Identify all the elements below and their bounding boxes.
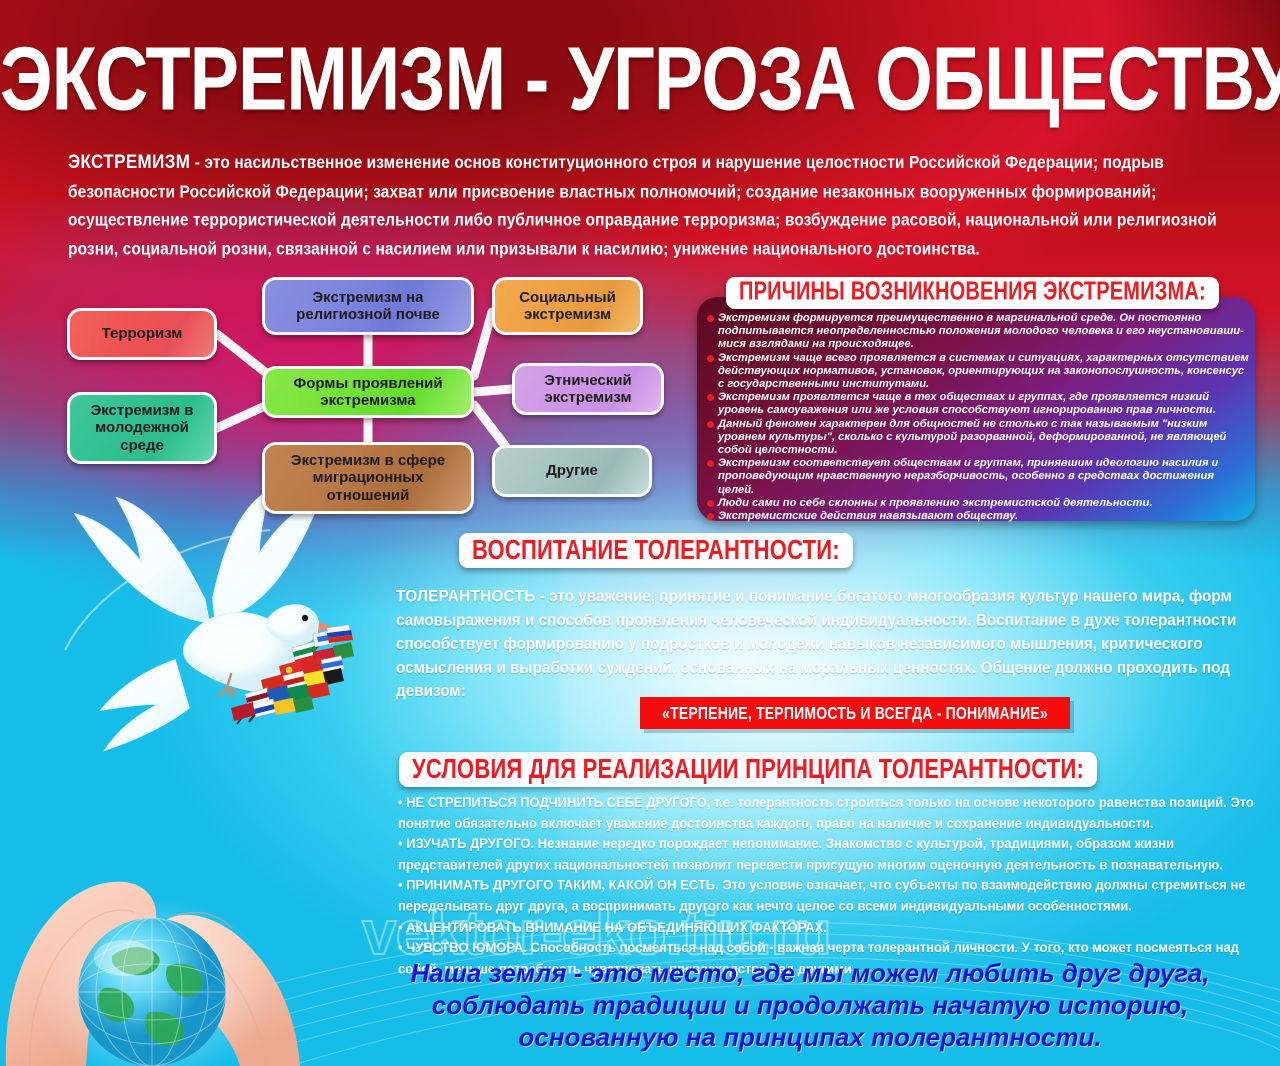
poster-root: ЭКСТРЕМИЗМ - УГРОЗА ОБЩЕСТВУ! ЭКСТРЕМИЗМ… — [0, 0, 1280, 1066]
conditions-list: • НЕ СТРЕПИТЬСЯ ПОДЧИНИТЬ СЕБЕ ДРУГОГО, … — [398, 792, 1264, 979]
diagram-node-label: Формы проявлений экстремизма — [272, 375, 464, 410]
diagram-node-religious[interactable]: Экстремизм на религиозной почве — [262, 277, 474, 335]
causes-list-item: Экстремистские действия навязывают общес… — [705, 510, 1253, 523]
bullet-dot-icon — [707, 513, 714, 520]
conditions-title-ribbon: УСЛОВИЯ ДЛЯ РЕАЛИЗАЦИИ ПРИНЦИПА ТОЛЕРАНТ… — [399, 752, 1097, 787]
causes-item-text: Экстремистские действия навязывают общес… — [718, 510, 1018, 522]
causes-item-text: Экстремизм проявляется чаще в тех общест… — [718, 391, 1216, 416]
diagram-node-migration[interactable]: Экстремизм в сфере миграционных отношени… — [262, 442, 474, 514]
diagram-node-label: Социальный экстремизм — [502, 289, 633, 324]
bullet-dot-icon — [707, 421, 714, 428]
diagram-node-label: Экстремизм в молодежной среде — [77, 402, 207, 455]
causes-item-text: Экстремизм формируется преимущественно в… — [718, 312, 1244, 350]
conditions-list-item: • ПРИНИМАТЬ ДРУГОГО ТАКИМ, КАКОЙ ОН ЕСТЬ… — [398, 875, 1264, 917]
conditions-list-item: • НЕ СТРЕПИТЬСЯ ПОДЧИНИТЬ СЕБЕ ДРУГОГО, … — [398, 792, 1264, 834]
bullet-dot-icon — [707, 355, 714, 362]
causes-list-item: Люди сами по себе склонны к проявлению э… — [705, 497, 1253, 510]
intro-paragraph: ЭКСТРЕМИЗМ - это насильственное изменени… — [68, 148, 1228, 263]
diagram-node-other[interactable]: Другие — [492, 445, 652, 497]
tolerance-paragraph: ТОЛЕРАНТНОСТЬ - это уважение, принятие и… — [396, 585, 1268, 703]
causes-item-text: Экстремизм чаще всего проявляется в сист… — [718, 352, 1249, 390]
causes-list-item: Экстремизм проявляется чаще в тех общест… — [705, 391, 1253, 417]
diagram-node-center[interactable]: Формы проявлений экстремизма — [262, 366, 474, 418]
tolerance-motto-text: «ТЕРПЕНИЕ, ТЕРПИМОСТЬ И ВСЕГДА - ПОНИМАН… — [662, 703, 1048, 723]
causes-item-text: Данный феномен характерен для общностей … — [718, 418, 1226, 456]
tolerance-lead-word: ТОЛЕРАНТНОСТЬ — [396, 587, 536, 606]
causes-title-ribbon: ПРИЧИНЫ ВОЗНИКНОВЕНИЯ ЭКСТРЕМИЗМА: — [726, 277, 1219, 309]
diagram-node-label: Терроризм — [102, 325, 183, 343]
causes-list-item: Экстремизм соответствует обществам и гру… — [705, 457, 1253, 497]
conditions-list-item: • ИЗУЧАТЬ ДРУГОГО. Незнание нередко поро… — [398, 834, 1264, 876]
diagram-node-social[interactable]: Социальный экстремизм — [492, 277, 643, 335]
intro-body-text: - это насильственное изменение основ кон… — [68, 154, 1217, 259]
diagram-node-label: Другие — [546, 462, 598, 480]
footer-motto: Наша земля - это место, где мы можем люб… — [350, 957, 1270, 1053]
causes-item-text: Люди сами по себе склонны к проявлению э… — [718, 497, 1152, 509]
diagram-node-label: Экстремизм в сфере миграционных отношени… — [272, 452, 464, 505]
diagram-node-ethnic[interactable]: Этнический экстремизм — [512, 363, 664, 415]
bullet-dot-icon — [707, 500, 714, 507]
tolerance-motto-banner: «ТЕРПЕНИЕ, ТЕРПИМОСТЬ И ВСЕГДА - ПОНИМАН… — [640, 697, 1070, 729]
bullet-dot-icon — [707, 315, 714, 322]
forms-of-extremism-diagram: Терроризм Экстремизм на религиозной почв… — [55, 272, 715, 522]
conditions-list-item: • АКЦЕНТИРОВАТЬ ВНИМАНИЕ НА ОБЪЕДИНЯЮЩИХ… — [398, 917, 1264, 938]
tolerance-title-ribbon: ВОСПИТАНИЕ ТОЛЕРАНТНОСТИ: — [459, 533, 853, 568]
tolerance-title-text: ВОСПИТАНИЕ ТОЛЕРАНТНОСТИ: — [472, 533, 840, 566]
diagram-node-label: Экстремизм на религиозной почве — [272, 289, 464, 324]
diagram-node-label: Этнический экстремизм — [522, 372, 654, 407]
bullet-dot-icon — [707, 460, 714, 467]
bullet-dot-icon — [707, 394, 714, 401]
causes-item-text: Экстремизм соответствует обществам и гру… — [718, 457, 1218, 495]
causes-list: Экстремизм формируется преимущественно в… — [705, 312, 1253, 523]
causes-title-text: ПРИЧИНЫ ВОЗНИКНОВЕНИЯ ЭКСТРЕМИЗМА: — [739, 278, 1206, 307]
causes-list-item: Данный феномен характерен для общностей … — [705, 418, 1253, 458]
intro-lead-word: ЭКСТРЕМИЗМ — [68, 151, 190, 172]
causes-list-item: Экстремизм чаще всего проявляется в сист… — [705, 352, 1253, 392]
diagram-node-youth[interactable]: Экстремизм в молодежной среде — [67, 392, 217, 464]
diagram-node-terrorism[interactable]: Терроризм — [67, 308, 217, 360]
conditions-title-text: УСЛОВИЯ ДЛЯ РЕАЛИЗАЦИИ ПРИНЦИПА ТОЛЕРАНТ… — [412, 752, 1084, 785]
causes-list-item: Экстремизм формируется преимущественно в… — [705, 312, 1253, 352]
poster-title: ЭКСТРЕМИЗМ - УГРОЗА ОБЩЕСТВУ! — [0, 34, 1280, 124]
